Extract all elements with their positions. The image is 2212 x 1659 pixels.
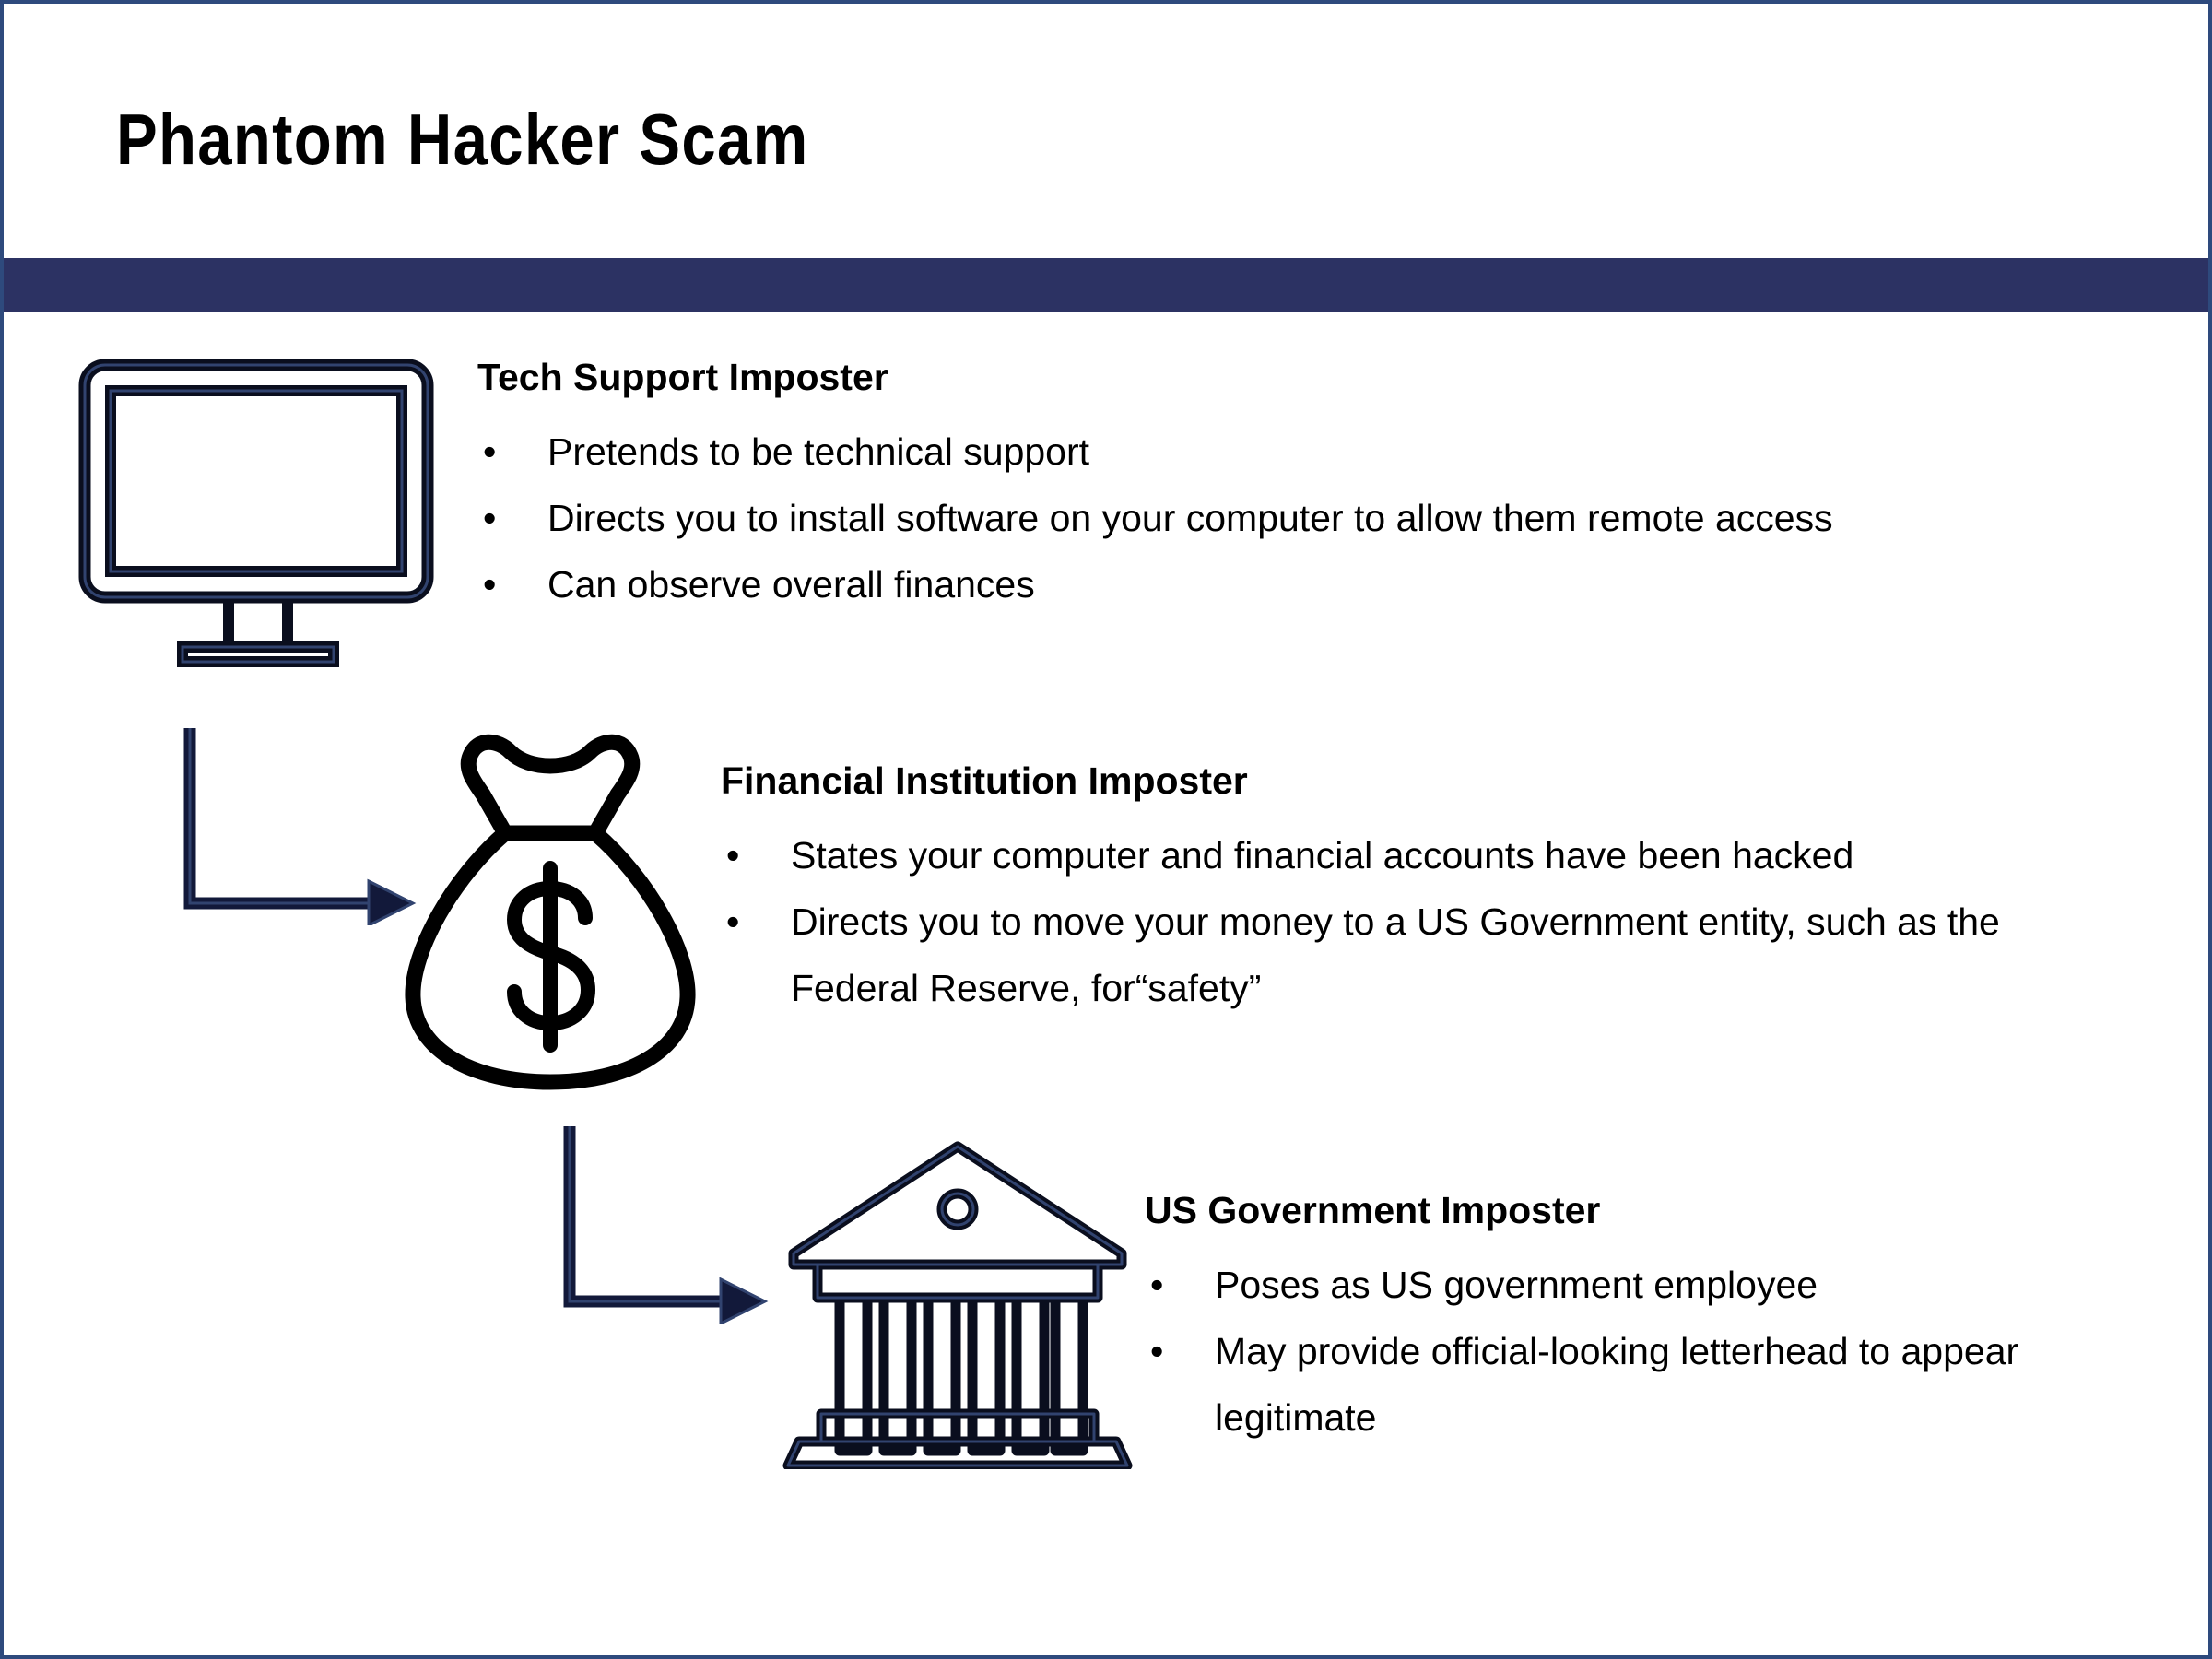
list-item-text: Pretends to be technical support — [547, 430, 1089, 473]
list-item: • Can observe overall finances — [477, 551, 2201, 618]
list-item-text: Directs you to move your money to a US G… — [791, 900, 2000, 1009]
page-title: Phantom Hacker Scam — [116, 100, 809, 178]
list-item-text: May provide official-looking letterhead … — [1215, 1330, 2018, 1439]
bullet-list-financial-institution: • States your computer and financial acc… — [721, 822, 2103, 1021]
bullet-list-us-government: • Poses as US government employee • May … — [1145, 1252, 2177, 1451]
section-heading-tech-support: Tech Support Imposter — [477, 354, 888, 400]
section-heading-us-government: US Government Imposter — [1145, 1187, 1600, 1233]
government-building-icon — [782, 1137, 1133, 1469]
bullet-dot: • — [483, 418, 496, 485]
bullet-dot: • — [726, 888, 739, 955]
list-item: • States your computer and financial acc… — [721, 822, 2103, 888]
arrow-monitor-to-moneybag — [177, 723, 417, 925]
section-heading-financial-institution: Financial Institution Imposter — [721, 758, 1248, 804]
bullet-dot: • — [483, 551, 496, 618]
bullet-dot: • — [483, 485, 496, 551]
title-area: Phantom Hacker Scam — [4, 4, 2208, 258]
list-item: • Directs you to move your money to a US… — [721, 888, 2103, 1021]
list-item-text: Poses as US government employee — [1215, 1264, 1818, 1306]
bullet-dot: • — [726, 822, 739, 888]
list-item: • Poses as US government employee — [1145, 1252, 2177, 1318]
list-item-text: Directs you to install software on your … — [547, 497, 1833, 539]
list-item: • Directs you to install software on you… — [477, 485, 2201, 551]
list-item-text: Can observe overall finances — [547, 563, 1035, 606]
list-item-text: States your computer and financial accou… — [791, 834, 1853, 877]
list-item: • Pretends to be technical support — [477, 418, 2201, 485]
computer-monitor-icon — [76, 358, 437, 671]
money-bag-icon — [389, 721, 712, 1099]
bullet-dot: • — [1150, 1252, 1163, 1318]
bullet-dot: • — [1150, 1318, 1163, 1384]
header-divider-band — [0, 258, 2212, 312]
list-item: • May provide official-looking letterhea… — [1145, 1318, 2177, 1451]
arrow-moneybag-to-building — [557, 1121, 769, 1324]
bullet-list-tech-support: • Pretends to be technical support • Dir… — [477, 418, 2201, 618]
slide-canvas: Phantom Hacker Scam Tech Support Imposte… — [0, 0, 2212, 1659]
